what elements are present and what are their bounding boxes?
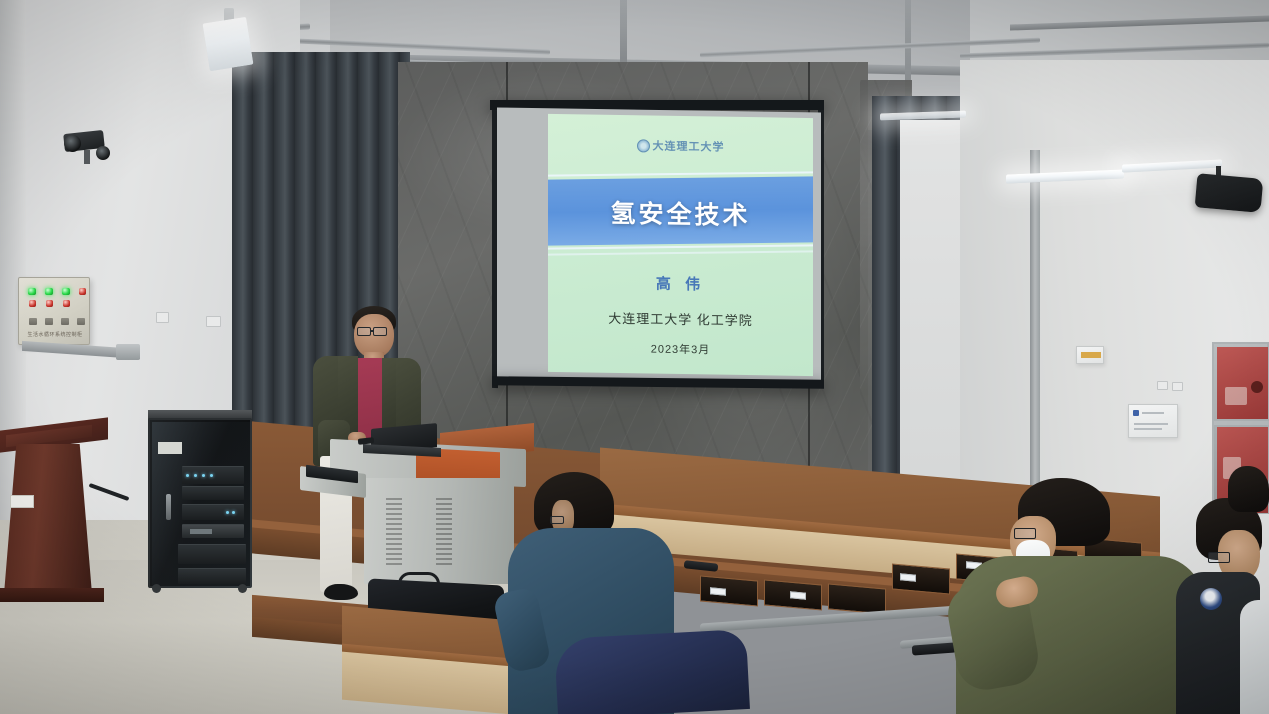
rack-caster-right — [238, 584, 247, 593]
dut-logo: 大连理工大学 — [548, 136, 813, 156]
electrical-control-panel[interactable]: 生活水循环系统控制柜 — [18, 277, 90, 345]
wall-outlet-left[interactable] — [156, 312, 169, 323]
rack-unit-4-display — [190, 529, 212, 534]
wall-outlet-right-2[interactable] — [1172, 382, 1183, 391]
rack-unit-2 — [182, 486, 244, 500]
indicator-red-3 — [63, 300, 70, 307]
rack-led-1 — [186, 474, 189, 477]
cubby-3 — [828, 583, 886, 614]
audience-3-badge-icon — [1200, 588, 1222, 610]
security-camera-lens — [64, 135, 81, 152]
lectern-vent-right — [436, 498, 452, 568]
rack-label-tag — [158, 442, 182, 454]
rack-led-2 — [194, 474, 197, 477]
rack-led-5 — [226, 511, 229, 514]
wall-plate-strip — [1081, 352, 1101, 358]
rack-unit-1 — [182, 466, 244, 484]
audience-4-jacket — [1240, 600, 1269, 714]
slide-rule-bottom-2 — [548, 250, 813, 255]
dut-logo-text: 大连理工大学 — [653, 138, 725, 155]
presenter-glasses-right — [373, 327, 387, 336]
presenter-glasses-left — [357, 327, 371, 336]
slide-date: 2023年3月 — [548, 339, 813, 359]
lecture-hall-photo: 大连理工大学 氢安全技术 高 伟 大连理工大学 化工学院 2023年3月 生活水… — [0, 0, 1269, 714]
fluorescent-light-1[interactable] — [203, 17, 254, 71]
cubby-1 — [700, 575, 758, 606]
cabinet-item-1 — [1225, 387, 1247, 405]
lectern-vent-left — [386, 498, 402, 568]
av-equipment-rack[interactable] — [148, 418, 252, 588]
sign-line-1 — [1142, 412, 1164, 414]
security-camera-mount — [84, 150, 90, 164]
indicator-red-2 — [46, 300, 53, 307]
indicator-red-0 — [79, 288, 86, 295]
cabinet-divider — [1214, 421, 1269, 425]
rack-door-handle[interactable] — [166, 494, 171, 520]
wall-plate-small — [1076, 346, 1104, 364]
slide-affiliation: 大连理工大学 化工学院 — [548, 307, 813, 330]
audience-3-glasses — [1208, 552, 1230, 563]
rack-unit-3 — [182, 504, 244, 520]
indicator-red-1 — [29, 300, 36, 307]
rack-unit-6 — [178, 568, 246, 584]
indicator-green-1 — [28, 288, 36, 295]
presenter-glasses-bridge — [370, 330, 374, 332]
rack-led-4 — [210, 474, 213, 477]
rack-led-3 — [202, 474, 205, 477]
presenter-shoe — [324, 584, 358, 600]
podium-label-tag — [10, 495, 34, 508]
security-camera-lens-2 — [96, 146, 110, 160]
wall-outlet-right-1[interactable] — [1157, 381, 1168, 390]
slide-title: 氢安全技术 — [548, 193, 813, 233]
wall-outlet-left-2[interactable] — [206, 316, 221, 327]
audience-4-hair — [1228, 466, 1269, 512]
cabinet-item-2 — [1251, 381, 1263, 393]
rack-led-6 — [232, 511, 235, 514]
sign-logo — [1133, 410, 1139, 416]
control-switch-4[interactable] — [77, 318, 85, 325]
cubby-tag-2 — [790, 591, 806, 599]
wall-speaker — [1195, 173, 1264, 213]
cabinet-pane-top — [1217, 347, 1268, 419]
sign-line-3 — [1134, 428, 1162, 430]
dut-logo-mark — [637, 139, 650, 152]
control-switch-1[interactable] — [29, 318, 37, 325]
cubby-tag-1 — [710, 587, 726, 595]
microphone-on-desk-2[interactable] — [912, 642, 957, 655]
audience-1-draped-coat — [554, 629, 750, 714]
wooden-podium-column — [4, 444, 92, 594]
indicator-green-2 — [45, 288, 53, 295]
rack-unit-4 — [182, 524, 244, 538]
cubby-tag-3 — [900, 573, 916, 581]
rack-unit-5 — [178, 544, 246, 564]
wall-column-right — [1030, 150, 1040, 520]
control-panel-caption: 生活水循环系统控制柜 — [19, 331, 91, 338]
audience-2-glasses — [1014, 528, 1036, 539]
control-switch-3[interactable] — [61, 318, 69, 325]
indicator-green-3 — [62, 288, 70, 295]
audience-1-glasses — [550, 516, 564, 524]
slide-presenter-name: 高 伟 — [548, 271, 813, 296]
rack-caster-left — [152, 584, 161, 593]
wall-notice-sign — [1128, 404, 1178, 438]
conduit-junction — [116, 344, 140, 360]
control-switch-2[interactable] — [45, 318, 53, 325]
sign-line-2 — [1134, 423, 1168, 425]
projected-slide: 大连理工大学 氢安全技术 高 伟 大连理工大学 化工学院 2023年3月 — [548, 114, 813, 376]
podium-base — [0, 588, 104, 602]
